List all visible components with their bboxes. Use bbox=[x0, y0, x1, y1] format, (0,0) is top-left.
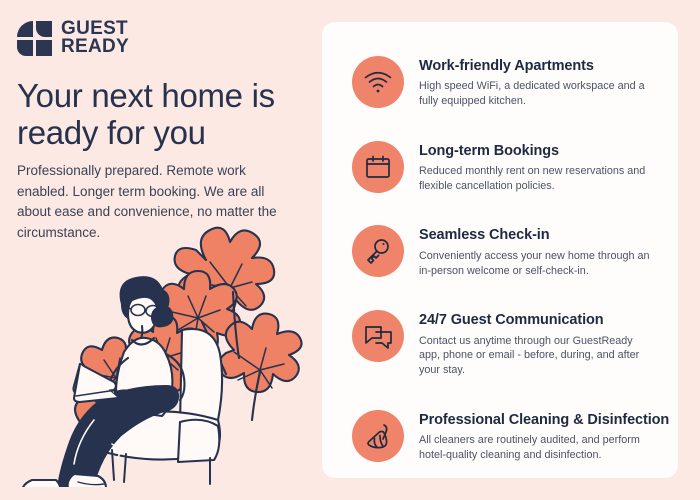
feature-description: High speed WiFi, a dedicated workspace a… bbox=[419, 79, 652, 108]
features-card: Work-friendly Apartments High speed WiFi… bbox=[322, 22, 678, 478]
feature-title: 24/7 Guest Communication bbox=[419, 312, 652, 329]
calendar-icon bbox=[352, 141, 404, 193]
list-item[interactable]: Professional Cleaning & Disinfection All… bbox=[352, 409, 652, 463]
broom-icon bbox=[352, 410, 404, 462]
feature-text: Seamless Check-in Conveniently access yo… bbox=[419, 224, 652, 278]
features-list: Work-friendly Apartments High speed WiFi… bbox=[352, 55, 652, 462]
feature-title: Work-friendly Apartments bbox=[419, 58, 652, 75]
feature-description: All cleaners are routinely audited, and … bbox=[419, 433, 669, 462]
feature-description: Conveniently access your new home throug… bbox=[419, 249, 652, 278]
list-item[interactable]: Work-friendly Apartments High speed WiFi… bbox=[352, 55, 652, 109]
brand-logo[interactable]: GUEST READY bbox=[17, 20, 129, 56]
feature-description: Reduced monthly rent on new reservations… bbox=[419, 164, 652, 193]
feature-text: Professional Cleaning & Disinfection All… bbox=[419, 409, 669, 463]
page-title: Your next home is ready for you bbox=[17, 78, 307, 152]
feature-text: 24/7 Guest Communication Contact us anyt… bbox=[419, 309, 652, 377]
feature-text: Work-friendly Apartments High speed WiFi… bbox=[419, 55, 652, 109]
key-icon bbox=[352, 225, 404, 277]
wifi-icon bbox=[352, 56, 404, 108]
feature-title: Professional Cleaning & Disinfection bbox=[419, 412, 669, 429]
hero-illustration bbox=[20, 222, 320, 487]
list-item[interactable]: Long-term Bookings Reduced monthly rent … bbox=[352, 140, 652, 194]
feature-title: Seamless Check-in bbox=[419, 227, 652, 244]
logo-word-line2: READY bbox=[61, 38, 129, 56]
list-item[interactable]: 24/7 Guest Communication Contact us anyt… bbox=[352, 309, 652, 377]
feature-title: Long-term Bookings bbox=[419, 143, 652, 160]
list-item[interactable]: Seamless Check-in Conveniently access yo… bbox=[352, 224, 652, 278]
feature-description: Contact us anytime through our GuestRead… bbox=[419, 334, 652, 378]
guestready-quadrant-logo-icon bbox=[17, 21, 52, 56]
chat-bubbles-icon bbox=[352, 310, 404, 362]
hero-column: GUEST READY Your next home is ready for … bbox=[0, 0, 320, 500]
feature-text: Long-term Bookings Reduced monthly rent … bbox=[419, 140, 652, 194]
logo-wordmark: GUEST READY bbox=[61, 20, 129, 56]
